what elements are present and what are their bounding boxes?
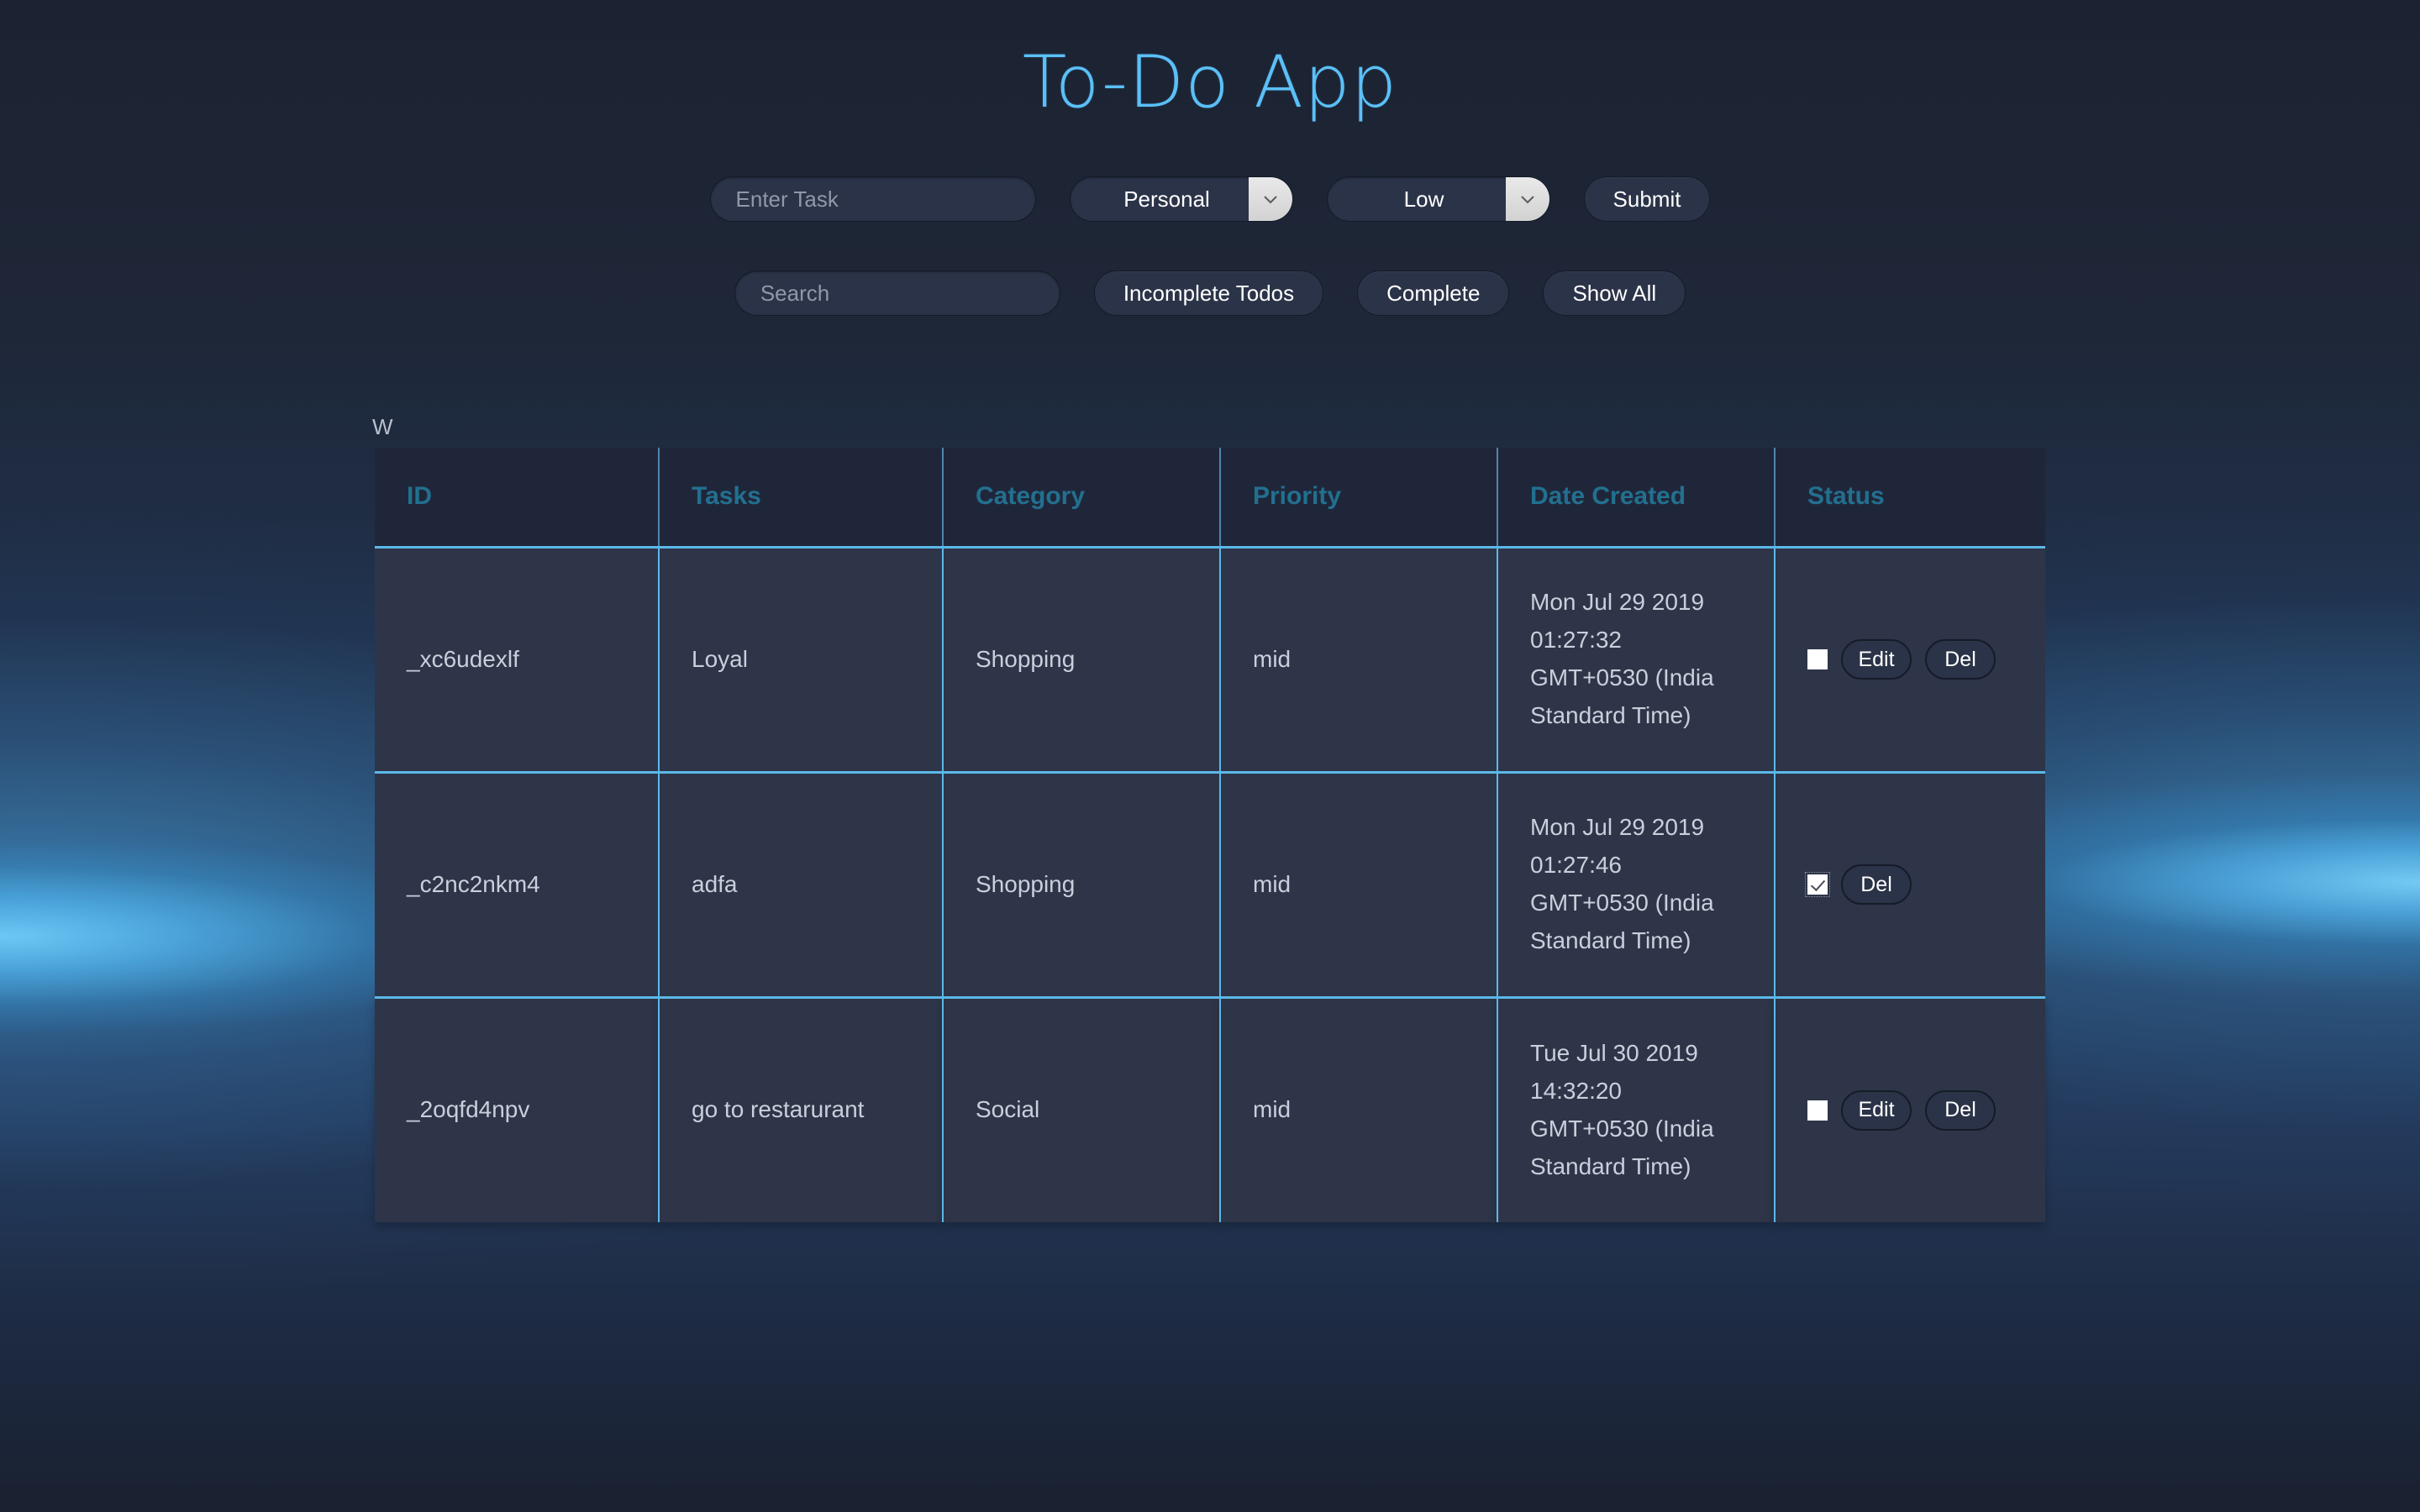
cell-category: Shopping [943,772,1220,997]
complete-checkbox[interactable] [1807,649,1828,669]
table-row: _2oqfd4npvgo to restarurantSocialmidTue … [375,997,2045,1222]
cell-id: _2oqfd4npv [375,997,659,1222]
show-all-button[interactable]: Show All [1543,270,1686,316]
todo-table: IDTasksCategoryPriorityDate CreatedStatu… [375,448,2045,1222]
column-header-status: Status [1775,448,2045,547]
column-header-tasks: Tasks [659,448,943,547]
incomplete-todos-button[interactable]: Incomplete Todos [1094,270,1323,316]
cell-status: Del [1775,772,2045,997]
category-select-wrapper[interactable]: PersonalShoppingSocialWork [1070,176,1293,222]
cell-priority: mid [1220,997,1497,1222]
status-actions: EditDel [1807,639,2013,680]
table-header-row: IDTasksCategoryPriorityDate CreatedStatu… [375,448,2045,547]
column-header-date-created: Date Created [1497,448,1775,547]
todo-table-wrapper: IDTasksCategoryPriorityDate CreatedStatu… [375,448,2045,1222]
table-body: _xc6udexlfLoyalShoppingmidMon Jul 29 201… [375,547,2045,1222]
table-row: _xc6udexlfLoyalShoppingmidMon Jul 29 201… [375,547,2045,772]
cell-date: Mon Jul 29 2019 01:27:32 GMT+0530 (India… [1497,547,1775,772]
complete-checkbox[interactable] [1807,874,1828,895]
delete-button[interactable]: Del [1925,639,1996,680]
delete-button[interactable]: Del [1841,864,1912,905]
page-title: To-Do App [0,0,2420,124]
cell-category: Shopping [943,547,1220,772]
column-header-id: ID [375,448,659,547]
column-header-category: Category [943,448,1220,547]
edit-button[interactable]: Edit [1841,639,1912,680]
search-input[interactable] [734,270,1060,316]
category-select[interactable]: PersonalShoppingSocialWork [1070,176,1293,222]
cell-task: adfa [659,772,943,997]
table-header: IDTasksCategoryPriorityDate CreatedStatu… [375,448,2045,547]
cell-task: go to restarurant [659,997,943,1222]
status-actions: EditDel [1807,1090,2013,1131]
cell-status: EditDel [1775,547,2045,772]
column-header-priority: Priority [1220,448,1497,547]
cell-priority: mid [1220,547,1497,772]
cell-id: _c2nc2nkm4 [375,772,659,997]
cell-date: Mon Jul 29 2019 01:27:46 GMT+0530 (India… [1497,772,1775,997]
priority-select[interactable]: LowmidHigh [1327,176,1550,222]
submit-button[interactable]: Submit [1584,176,1711,222]
cell-date: Tue Jul 30 2019 14:32:20 GMT+0530 (India… [1497,997,1775,1222]
task-input[interactable] [710,176,1036,222]
edit-button[interactable]: Edit [1841,1090,1912,1131]
cell-id: _xc6udexlf [375,547,659,772]
status-actions: Del [1807,864,2013,905]
cell-category: Social [943,997,1220,1222]
add-task-form: PersonalShoppingSocialWork LowmidHigh Su… [0,176,2420,222]
complete-button[interactable]: Complete [1357,270,1509,316]
stray-text: W [372,416,393,438]
complete-checkbox[interactable] [1807,1100,1828,1121]
cell-priority: mid [1220,772,1497,997]
cell-status: EditDel [1775,997,2045,1222]
priority-select-wrapper[interactable]: LowmidHigh [1327,176,1550,222]
table-row: _c2nc2nkm4adfaShoppingmidMon Jul 29 2019… [375,772,2045,997]
filter-bar: Incomplete Todos Complete Show All [0,270,2420,316]
cell-task: Loyal [659,547,943,772]
delete-button[interactable]: Del [1925,1090,1996,1131]
